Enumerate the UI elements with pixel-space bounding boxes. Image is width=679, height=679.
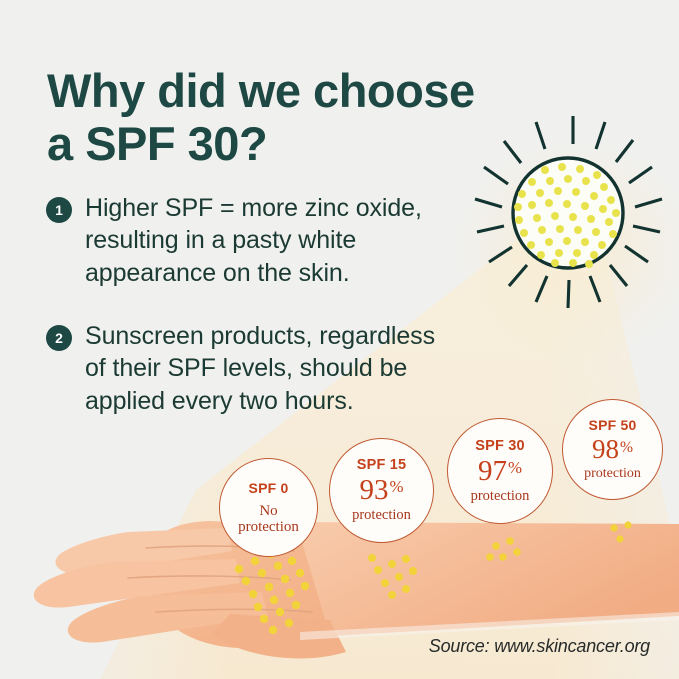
percent-sign: % [620, 439, 633, 456]
list-item: 1 Higher SPF = more zinc oxide, resultin… [46, 192, 486, 289]
list-number-badge: 2 [46, 325, 72, 351]
spf-percent-value: 97% [478, 457, 522, 486]
spf-level-label: SPF 0 [249, 480, 289, 496]
spf-circle-30: SPF 30 97% protection [447, 418, 553, 524]
spf-percent-value: 93% [359, 476, 403, 505]
spf-circle-15: SPF 15 93% protection [329, 438, 434, 543]
spf-circle-0: SPF 0 No protection [219, 458, 318, 557]
spf-protection-text: protection [352, 508, 411, 524]
spf-percent-value: 98% [592, 436, 633, 463]
spf-circle-50: SPF 50 98% protection [562, 399, 663, 500]
infographic-poster: Why did we choose a SPF 30? 1 Higher SPF… [0, 0, 679, 679]
percent-sign: % [508, 458, 522, 477]
source-attribution: Source: www.skincancer.org [429, 636, 650, 657]
spf-level-label: SPF 30 [475, 438, 525, 454]
spf-protection-text: protection [471, 489, 530, 505]
page-title: Why did we choose a SPF 30? [47, 65, 592, 170]
list-item-text: Higher SPF = more zinc oxide, resulting … [85, 192, 422, 289]
list-number-badge: 1 [46, 197, 72, 223]
spf-level-label: SPF 15 [357, 457, 407, 473]
spf-protection-text: No protection [238, 503, 299, 535]
percent-sign: % [389, 477, 403, 496]
spf-protection-text: protection [584, 466, 641, 481]
list-item-text: Sunscreen products, regardless of their … [85, 320, 435, 417]
list-item: 2 Sunscreen products, regardless of thei… [46, 320, 531, 417]
sun-disc-icon [513, 158, 623, 268]
spf-level-label: SPF 50 [589, 417, 637, 433]
